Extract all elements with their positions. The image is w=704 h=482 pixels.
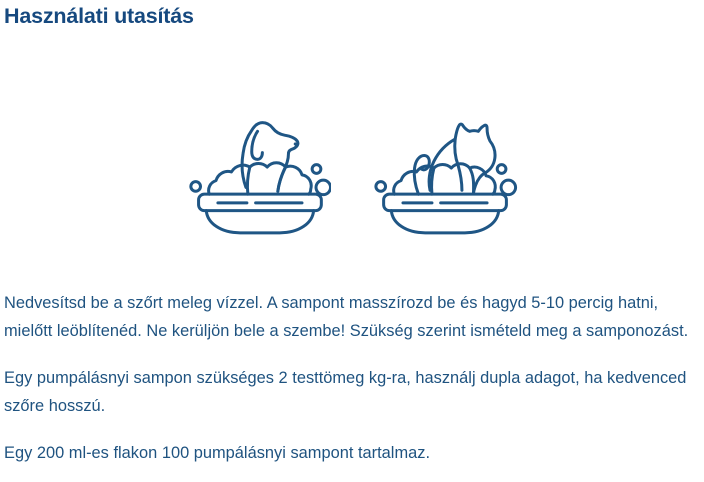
instruction-paragraph-2: Egy pumpálásnyi sampon szükséges 2 testt… [4, 365, 698, 420]
instructions-text: Nedvesítsd be a szőrt meleg vízzel. A sa… [4, 290, 698, 468]
cat-in-bath-icon [373, 105, 518, 235]
dog-in-bath-icon [186, 105, 331, 235]
instruction-paragraph-1: Nedvesítsd be a szőrt meleg vízzel. A sa… [4, 290, 698, 345]
page-title: Használati utasítás [4, 2, 194, 30]
illustration-row [0, 100, 704, 240]
usage-instructions-page: Használati utasítás [0, 0, 704, 482]
instruction-paragraph-3: Egy 200 ml-es flakon 100 pumpálásnyi sam… [4, 440, 698, 468]
